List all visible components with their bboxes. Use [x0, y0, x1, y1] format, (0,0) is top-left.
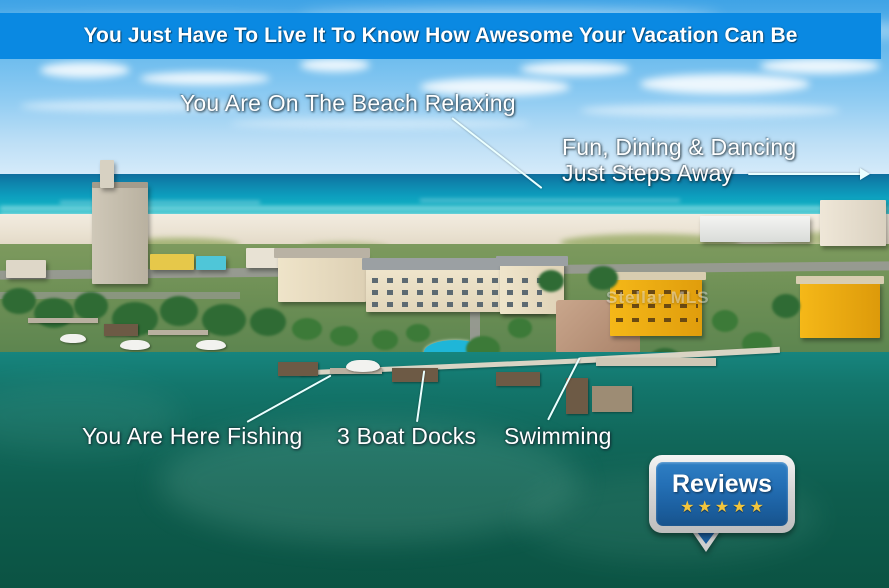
star-icon: ★: [732, 500, 746, 516]
callout-you-are-here-fishing: You Are Here Fishing: [82, 423, 303, 450]
star-icon: ★: [680, 500, 694, 516]
callout-fun-dining-dancing: Fun, Dining & Dancing Just Steps Away: [562, 134, 796, 186]
promo-image: Stellar MLS You Just Have To Live It To …: [0, 0, 889, 588]
callout-beach-relaxing: You Are On The Beach Relaxing: [180, 90, 516, 117]
direction-arrow-icon: [860, 168, 870, 180]
star-icon: ★: [715, 500, 729, 516]
callout-swimming: Swimming: [504, 423, 612, 450]
star-icon: ★: [697, 500, 711, 516]
rating-stars: ★★★★★: [680, 500, 764, 516]
headline-banner: You Just Have To Live It To Know How Awe…: [0, 13, 881, 59]
callout-3-boat-docks: 3 Boat Docks: [337, 423, 476, 450]
headline-text: You Just Have To Live It To Know How Awe…: [83, 24, 797, 48]
star-icon: ★: [750, 500, 764, 516]
callout-fun-line1: Fun, Dining & Dancing: [562, 134, 796, 160]
reviews-badge[interactable]: Reviews ★★★★★: [649, 455, 795, 533]
reviews-label: Reviews: [672, 472, 772, 497]
reviews-badge-panel: Reviews ★★★★★: [656, 462, 788, 526]
direction-arrow-shaft: [748, 173, 866, 175]
